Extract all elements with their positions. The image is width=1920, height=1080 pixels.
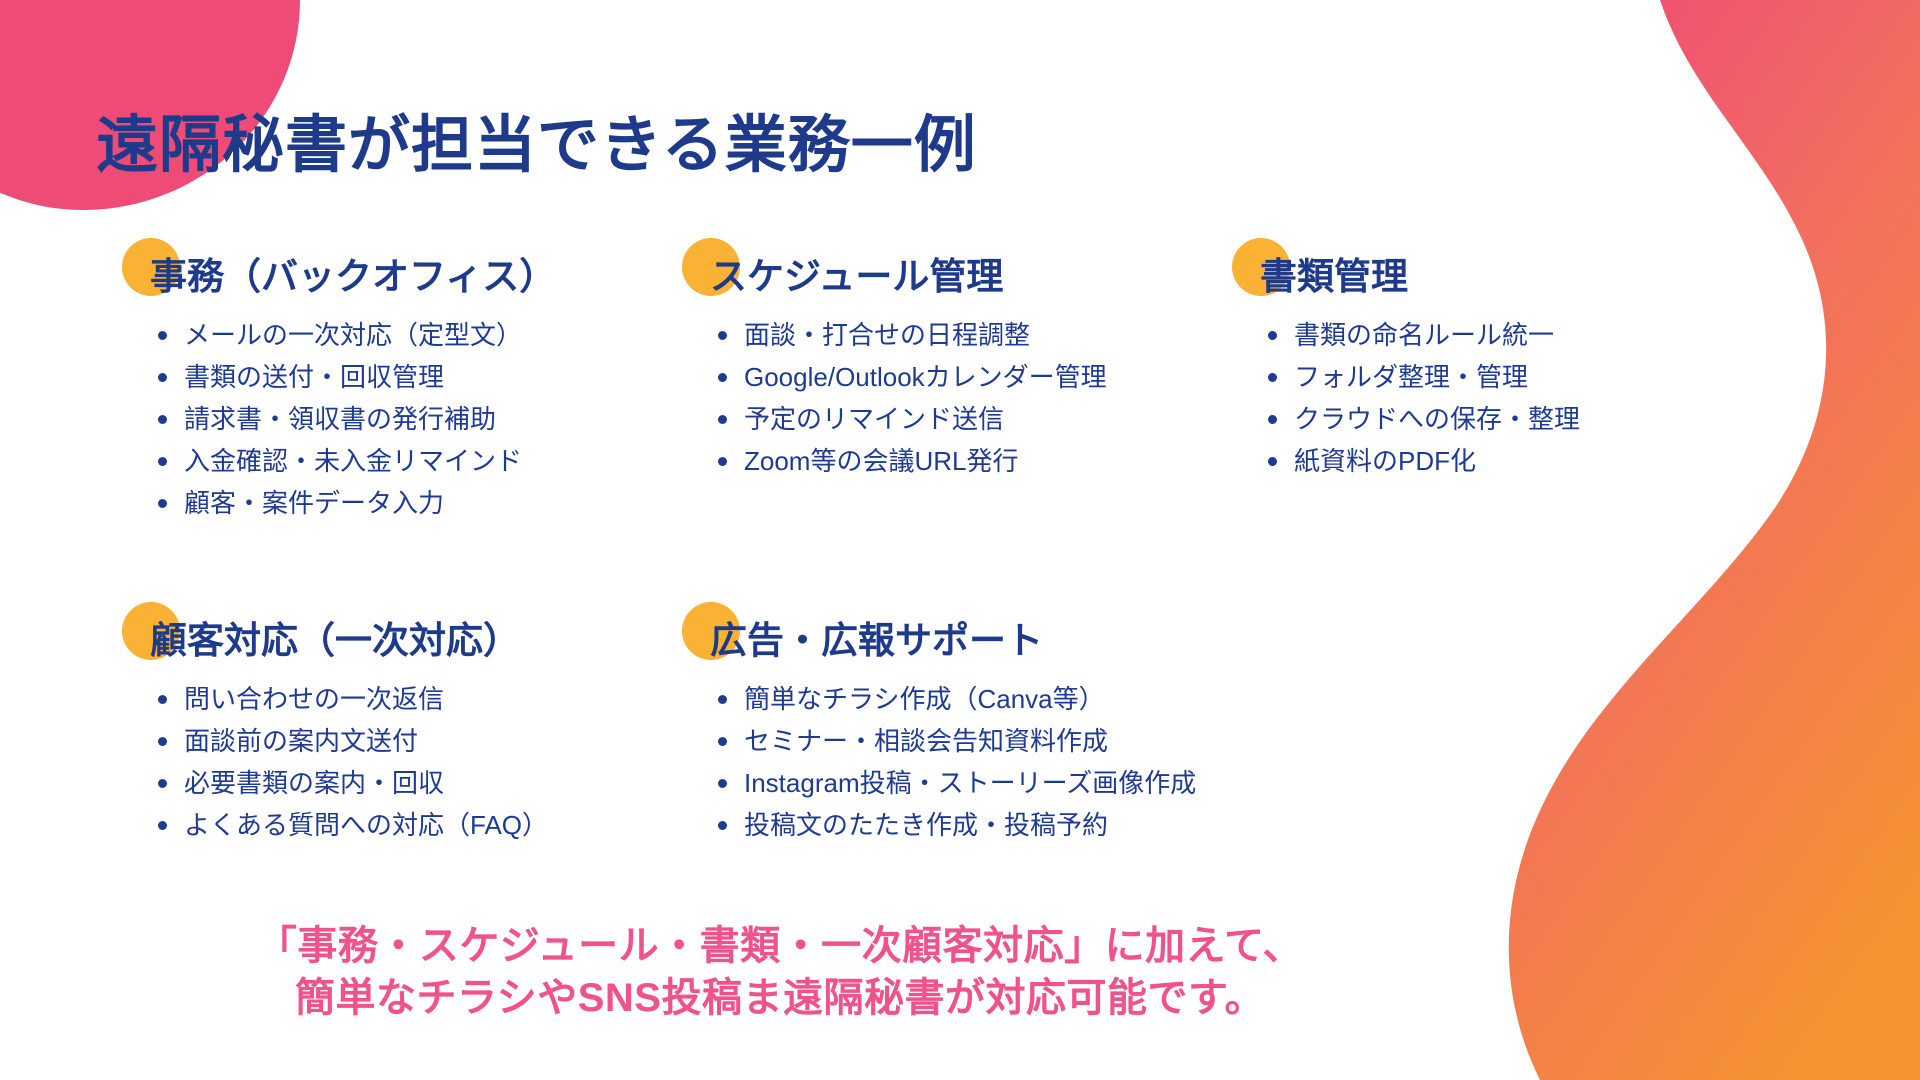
section-title: 事務（バックオフィス） [150, 256, 556, 297]
list-item: 必要書類の案内・回収 [150, 762, 710, 804]
list-item: 予定のリマインド送信 [710, 398, 1260, 440]
section-item-list: 簡単なチラシ作成（Canva等） セミナー・相談会告知資料作成 Instagra… [710, 678, 1260, 846]
list-item-label: 請求書・領収書の発行補助 [184, 404, 496, 434]
summary-line-2: 簡単なチラシやSNS投稿ま遠隔秘書が対応可能です。 [0, 972, 1560, 1024]
bullet-icon [718, 737, 727, 746]
bullet-icon [1268, 457, 1277, 466]
list-item-label: 面談・打合せの日程調整 [744, 320, 1030, 350]
bullet-icon [158, 457, 167, 466]
bullet-icon [718, 331, 727, 340]
section-item-list: メールの一次対応（定型文） 書類の送付・回収管理 請求書・領収書の発行補助 入金… [150, 314, 710, 524]
section-office-admin: 事務（バックオフィス） メールの一次対応（定型文） 書類の送付・回収管理 請求書… [150, 250, 710, 524]
bullet-icon [158, 415, 167, 424]
section-header: 顧客対応（一次対応） [150, 614, 710, 670]
section-header: 事務（バックオフィス） [150, 250, 710, 306]
summary-text-block: 「事務・スケジュール・書類・一次顧客対応」に加えて、 簡単なチラシやSNS投稿ま… [0, 920, 1560, 1024]
list-item-label: Google/Outlookカレンダー管理 [744, 362, 1107, 392]
list-item: 請求書・領収書の発行補助 [150, 398, 710, 440]
list-item-label: 投稿文のたたき作成・投稿予約 [744, 810, 1108, 840]
list-item-label: 顧客・案件データ入力 [184, 488, 444, 518]
summary-line-1: 「事務・スケジュール・書類・一次顧客対応」に加えて、 [0, 920, 1560, 972]
section-item-list: 問い合わせの一次返信 面談前の案内文送付 必要書類の案内・回収 よくある質問への… [150, 678, 710, 846]
bullet-icon [158, 499, 167, 508]
list-item-label: 紙資料のPDF化 [1294, 446, 1476, 476]
list-item: 投稿文のたたき作成・投稿予約 [710, 804, 1260, 846]
list-item-label: 入金確認・未入金リマインド [184, 446, 522, 476]
list-item: Zoom等の会議URL発行 [710, 440, 1260, 482]
section-title: スケジュール管理 [710, 256, 1003, 297]
bullet-icon [1268, 415, 1277, 424]
bullet-icon [718, 415, 727, 424]
bullet-icon [718, 695, 727, 704]
list-item-label: Zoom等の会議URL発行 [744, 446, 1018, 476]
bullet-icon [158, 695, 167, 704]
page-title: 遠隔秘書が担当できる業務一例 [96, 94, 977, 184]
list-item-label: 必要書類の案内・回収 [184, 768, 444, 798]
list-item: 簡単なチラシ作成（Canva等） [710, 678, 1260, 720]
list-item-label: セミナー・相談会告知資料作成 [744, 726, 1108, 756]
section-advertising-pr-support: 広告・広報サポート 簡単なチラシ作成（Canva等） セミナー・相談会告知資料作… [710, 614, 1260, 846]
section-item-list: 面談・打合せの日程調整 Google/Outlookカレンダー管理 予定のリマイ… [710, 314, 1260, 482]
list-item-label: Instagram投稿・ストーリーズ画像作成 [744, 768, 1196, 798]
list-item: フォルダ整理・管理 [1260, 356, 1650, 398]
list-item-label: 問い合わせの一次返信 [184, 684, 444, 714]
bullet-icon [718, 373, 727, 382]
list-item: Instagram投稿・ストーリーズ画像作成 [710, 762, 1260, 804]
section-document-management: 書類管理 書類の命名ルール統一 フォルダ整理・管理 クラウドへの保存・整理 紙資… [1260, 250, 1650, 482]
bullet-icon [1268, 331, 1277, 340]
list-item: 問い合わせの一次返信 [150, 678, 710, 720]
list-item-label: メールの一次対応（定型文） [184, 320, 522, 350]
section-customer-support: 顧客対応（一次対応） 問い合わせの一次返信 面談前の案内文送付 必要書類の案内・… [150, 614, 710, 846]
section-item-list: 書類の命名ルール統一 フォルダ整理・管理 クラウドへの保存・整理 紙資料のPDF… [1260, 314, 1650, 482]
list-item: 紙資料のPDF化 [1260, 440, 1650, 482]
section-row-1: 事務（バックオフィス） メールの一次対応（定型文） 書類の送付・回収管理 請求書… [150, 250, 1650, 524]
list-item-label: 面談前の案内文送付 [184, 726, 418, 756]
section-title: 顧客対応（一次対応） [150, 620, 520, 661]
section-title: 書類管理 [1260, 256, 1408, 297]
list-item-label: 書類の命名ルール統一 [1294, 320, 1554, 350]
bullet-icon [1268, 373, 1277, 382]
list-item-label: 書類の送付・回収管理 [184, 362, 444, 392]
list-item-label: 簡単なチラシ作成（Canva等） [744, 684, 1105, 714]
bullet-icon [158, 821, 167, 830]
section-header: 書類管理 [1260, 250, 1650, 306]
list-item-label: よくある質問への対応（FAQ） [184, 810, 548, 840]
section-header: スケジュール管理 [710, 250, 1260, 306]
list-item: 書類の命名ルール統一 [1260, 314, 1650, 356]
list-item: 書類の送付・回収管理 [150, 356, 710, 398]
list-item: 面談・打合せの日程調整 [710, 314, 1260, 356]
bullet-icon [718, 457, 727, 466]
section-schedule-management: スケジュール管理 面談・打合せの日程調整 Google/Outlookカレンダー… [710, 250, 1260, 482]
bullet-icon [158, 331, 167, 340]
list-item: クラウドへの保存・整理 [1260, 398, 1650, 440]
list-item: メールの一次対応（定型文） [150, 314, 710, 356]
section-title: 広告・広報サポート [710, 620, 1043, 661]
list-item-label: フォルダ整理・管理 [1294, 362, 1528, 392]
list-item: 入金確認・未入金リマインド [150, 440, 710, 482]
section-header: 広告・広報サポート [710, 614, 1260, 670]
bullet-icon [718, 821, 727, 830]
list-item-label: 予定のリマインド送信 [744, 404, 1004, 434]
bullet-icon [158, 373, 167, 382]
bullet-icon [718, 779, 727, 788]
section-row-2: 顧客対応（一次対応） 問い合わせの一次返信 面談前の案内文送付 必要書類の案内・… [150, 614, 1650, 846]
list-item: 面談前の案内文送付 [150, 720, 710, 762]
list-item: よくある質問への対応（FAQ） [150, 804, 710, 846]
list-item: 顧客・案件データ入力 [150, 482, 710, 524]
list-item-label: クラウドへの保存・整理 [1294, 404, 1580, 434]
list-item: セミナー・相談会告知資料作成 [710, 720, 1260, 762]
sections-container: 事務（バックオフィス） メールの一次対応（定型文） 書類の送付・回収管理 請求書… [150, 250, 1650, 846]
bullet-icon [158, 779, 167, 788]
list-item: Google/Outlookカレンダー管理 [710, 356, 1260, 398]
slide-root: 遠隔秘書が担当できる業務一例 事務（バックオフィス） メールの一次対応（定型文）… [0, 0, 1920, 1080]
bullet-icon [158, 737, 167, 746]
